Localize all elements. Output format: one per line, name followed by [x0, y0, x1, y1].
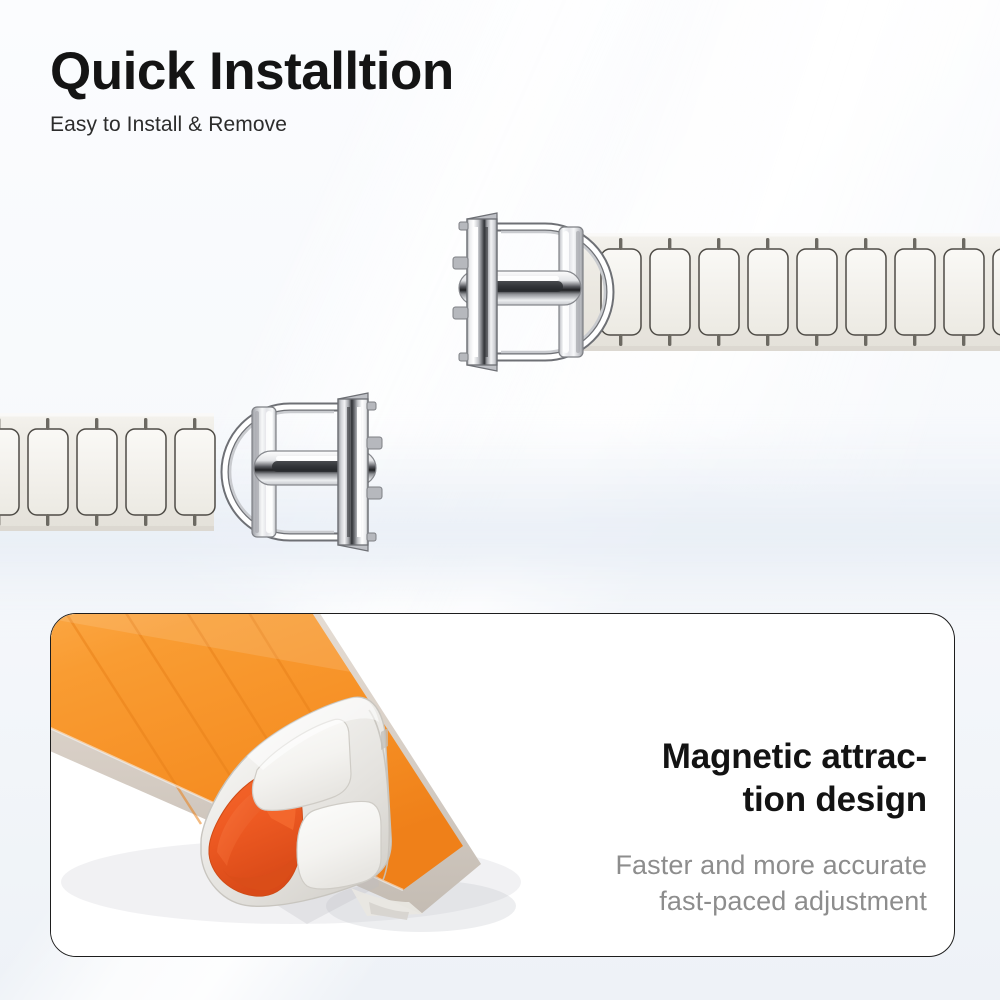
- caption-body-line-1: Faster and more accurate: [527, 847, 927, 883]
- feature-caption: Magnetic attrac- tion design Faster and …: [527, 735, 927, 919]
- caption-heading-line-2: tion design: [527, 778, 927, 821]
- caption-body-line-2: fast-paced adjustment: [527, 883, 927, 919]
- caption-heading-line-1: Magnetic attrac-: [527, 735, 927, 778]
- product-infographic: Quick Installtion Easy to Install & Remo…: [0, 0, 1000, 1000]
- band-strap-top: [583, 233, 1000, 351]
- band-illustration-top: [445, 205, 1000, 385]
- page-title: Quick Installtion: [50, 44, 454, 99]
- caption-heading: Magnetic attrac- tion design: [527, 735, 927, 821]
- band-segments-bottom: [0, 429, 215, 515]
- caption-body: Faster and more accurate fast-paced adju…: [527, 847, 927, 919]
- band-illustration-bottom: [0, 385, 390, 565]
- feature-card: Magnetic attrac- tion design Faster and …: [50, 613, 955, 957]
- header-block: Quick Installtion Easy to Install & Remo…: [50, 44, 454, 137]
- page-subtitle: Easy to Install & Remove: [50, 113, 454, 137]
- band-strap-bottom: [0, 413, 215, 531]
